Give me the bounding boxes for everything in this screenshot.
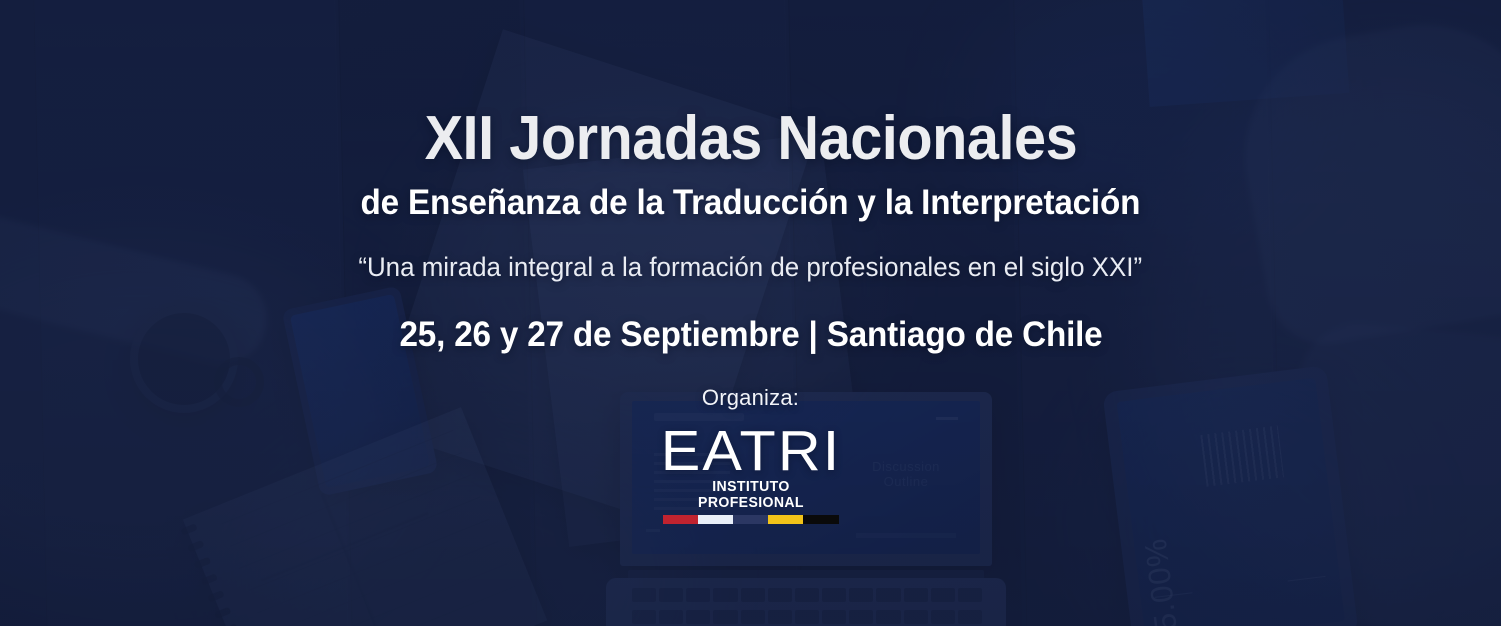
event-subtitle: de Enseñanza de la Traducción y la Inter… [361,183,1141,223]
eatri-logo: EATRI INSTITUTO PROFESIONAL [663,425,839,524]
event-tagline: “Una mirada integral a la formación de p… [359,252,1143,283]
banner-content: XII Jornadas Nacionales de Enseñanza de … [0,0,1501,626]
eatri-logo-wordmark: EATRI [659,425,842,477]
event-banner: 85.00% Discussion Outline [0,0,1501,626]
eatri-logo-colorbar-segment-4 [768,515,803,524]
event-title: XII Jornadas Nacionales [424,108,1077,170]
event-dateline: 25, 26 y 27 de Septiembre | Santiago de … [399,315,1102,355]
eatri-logo-colorbar-segment-1 [663,515,698,524]
eatri-logo-colorbar-segment-5 [803,515,838,524]
eatri-logo-colorbar-segment-2 [698,515,733,524]
eatri-logo-colorbar-segment-3 [733,515,768,524]
organizer-label: Organiza: [702,385,799,411]
eatri-logo-tagline: INSTITUTO PROFESIONAL [665,479,836,511]
eatri-logo-colorbar [663,515,839,524]
